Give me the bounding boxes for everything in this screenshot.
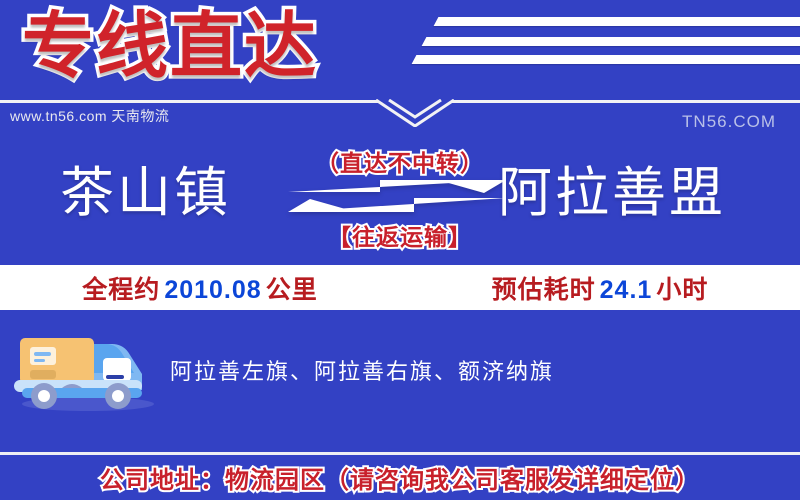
- stats-bar: 全程约2010.08公里 预估耗时24.1小时: [0, 265, 800, 310]
- page-title: 专线直达: [22, 2, 318, 92]
- footer-bar: 公司地址：物流园区（请咨询我公司客服发详细定位）: [0, 455, 800, 500]
- route-section: 茶山镇 （直达不中转） 【往返运输】 阿拉善盟: [0, 130, 800, 260]
- coverage-section: 阿拉善左旗、阿拉善右旗、额济纳旗: [0, 312, 800, 417]
- watermark-label: TN56.COM: [682, 112, 776, 132]
- route-note-direct: （直达不中转）: [292, 144, 508, 178]
- distance-label-suffix: 公里: [266, 276, 318, 304]
- duration-stat: 预估耗时24.1小时: [400, 270, 800, 306]
- destination-city-label: 阿拉善盟: [498, 148, 726, 227]
- decorative-stripe-1: [434, 17, 800, 26]
- double-arrow-icon: [288, 178, 506, 214]
- duration-value: 24.1: [596, 276, 657, 304]
- header-banner: 专线直达: [0, 0, 800, 100]
- delivery-truck-icon: [6, 318, 166, 419]
- company-address-label: 公司地址：物流园区（请咨询我公司客服发详细定位）: [100, 460, 700, 495]
- distance-stat: 全程约2010.08公里: [0, 270, 400, 306]
- decorative-stripe-3: [412, 55, 800, 64]
- duration-label-suffix: 小时: [656, 276, 708, 304]
- decorative-stripe-2: [422, 37, 800, 46]
- route-note-roundtrip: 【往返运输】: [292, 218, 508, 252]
- site-url-label: www.tn56.com 天南物流: [10, 106, 169, 126]
- coverage-areas-label: 阿拉善左旗、阿拉善右旗、额济纳旗: [170, 354, 554, 386]
- chevron-down-icon: [376, 99, 454, 127]
- header-divider-right: [452, 100, 800, 103]
- distance-label-prefix: 全程约: [82, 276, 160, 304]
- distance-value: 2010.08: [160, 276, 265, 304]
- duration-label-prefix: 预估耗时: [492, 276, 596, 304]
- header-divider-left: [0, 100, 378, 103]
- logistics-route-poster: 专线直达 www.tn56.com 天南物流 茶山镇 （直达不中转） 【往返运输…: [0, 0, 800, 500]
- origin-city-label: 茶山镇: [60, 148, 231, 227]
